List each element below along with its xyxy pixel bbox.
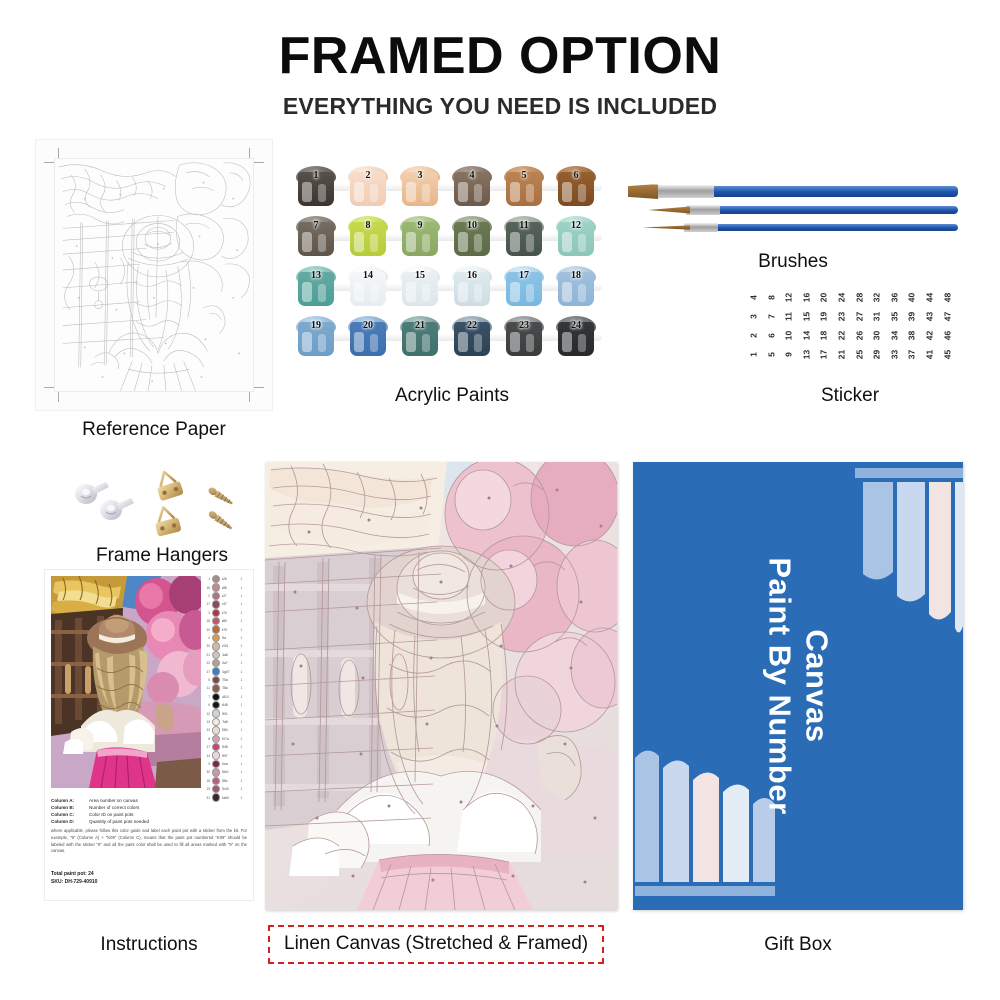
paint-pot: 17 — [504, 266, 544, 308]
legend-index: 13 — [205, 720, 210, 724]
legend-swatch — [212, 659, 221, 668]
sticker-number: 21 — [831, 346, 850, 364]
paint-pot-number: 9 — [400, 216, 440, 235]
legend-index: 27 — [205, 670, 210, 674]
paint-pot-number: 2 — [348, 166, 388, 185]
sticker-number: 38 — [902, 327, 921, 345]
column-key-row: Column D: Quantity of paint pots needed — [51, 819, 247, 826]
brush-flat — [628, 186, 958, 197]
instructions-sheet-image: 1s261 16s881 2s271 17b471 3a701 18a801 1… — [45, 570, 253, 900]
legend-swatch — [212, 777, 221, 786]
legend-swatch — [212, 718, 221, 727]
gift-box-title: Canvas Paint By Number — [761, 557, 834, 814]
sticker-number: 45 — [937, 346, 956, 364]
paint-pot-number: 17 — [504, 266, 544, 285]
caption-gift-box: Gift Box — [633, 935, 963, 956]
sticker-number: 10 — [778, 327, 797, 345]
legend-qty: 1 — [239, 586, 244, 590]
sticker-number: 1 — [743, 346, 762, 364]
column-key-label: Column C: — [51, 812, 83, 819]
total-paint-pots: Total paint pot: 24 — [51, 870, 247, 878]
sticker-number: 47 — [937, 308, 956, 326]
brush-round-fine — [638, 224, 958, 231]
paint-pot: 8 — [348, 216, 388, 258]
sticker-number-grid: 4 8 12 16 20 24 28 32 36 40 44 48 3 7 11… — [744, 288, 955, 364]
legend-swatch — [212, 709, 221, 718]
sticker-number: 13 — [796, 346, 815, 364]
sticker-number: 44 — [919, 289, 938, 307]
d-ring-hanger-icon — [153, 470, 184, 501]
legend-index: 1 — [205, 577, 210, 581]
legend-swatch — [212, 785, 221, 794]
legend-index: 16 — [205, 586, 210, 590]
linen-canvas-image — [265, 462, 617, 910]
legend-swatch — [212, 768, 221, 777]
legend-code: 7b40 — [222, 787, 238, 791]
legend-qty: 1 — [239, 762, 244, 766]
sticker-number: 18 — [814, 327, 833, 345]
paint-pot-number: 14 — [348, 266, 388, 285]
instructions-fine-print: where applicable, please follow this col… — [51, 828, 247, 855]
paint-pot-number: 24 — [556, 316, 596, 335]
sticker-number: 43 — [919, 308, 938, 326]
legend-qty: 1 — [239, 619, 244, 623]
legend-swatch — [212, 634, 221, 643]
sticker-number: 16 — [796, 289, 815, 307]
column-key-desc: Color ID on paint pots — [89, 812, 133, 819]
paint-pot: 5 — [504, 166, 544, 208]
paint-pot-number: 3 — [400, 166, 440, 185]
paint-pot: 20 — [348, 316, 388, 358]
legend-qty: 1 — [239, 670, 244, 674]
brushes-image — [628, 168, 958, 248]
legend-swatch — [212, 642, 221, 651]
paint-pot: 2 — [348, 166, 388, 208]
brush-bristles — [628, 184, 658, 199]
paint-pot: 4 — [452, 166, 492, 208]
legend-swatch — [212, 583, 221, 592]
column-key-label: Column D: — [51, 819, 83, 826]
legend-qty: 1 — [239, 602, 244, 606]
paint-pot: 10 — [452, 216, 492, 258]
sticker-sheet-image: 4 8 12 16 20 24 28 32 36 40 44 48 3 7 11… — [744, 288, 956, 366]
legend-code: 207a — [222, 737, 238, 741]
legend-qty: 1 — [239, 695, 244, 699]
sticker-number: 19 — [814, 308, 833, 326]
paint-pot: 19 — [296, 316, 336, 358]
sticker-number: 41 — [919, 346, 938, 364]
sticker-number: 29 — [866, 346, 885, 364]
paint-pot-number: 1 — [296, 166, 336, 185]
sticker-number: 5 — [761, 346, 780, 364]
sticker-number: 4 — [743, 289, 762, 307]
legend-index: 20 — [205, 644, 210, 648]
gift-box-line2: Paint By Number — [761, 557, 798, 814]
legend-index: 17 — [205, 602, 210, 606]
sku-code: SKU: DH-729-40910 — [51, 878, 247, 886]
sticker-number: 26 — [849, 327, 868, 345]
legend-code: u810 — [222, 695, 238, 699]
legend-swatch — [212, 575, 221, 584]
sticker-number: 9 — [778, 346, 797, 364]
legend-code: f0a — [222, 636, 238, 640]
legend-index: 18 — [205, 619, 210, 623]
canvas-artwork — [265, 462, 617, 910]
legend-qty: 1 — [239, 636, 244, 640]
sticker-number: 11 — [778, 308, 797, 326]
sticker-number: 8 — [761, 289, 780, 307]
legend-index: 11 — [205, 686, 210, 690]
sticker-number: 7 — [761, 308, 780, 326]
legend-code: t1a8 — [222, 653, 238, 657]
paint-pot-number: 8 — [348, 216, 388, 235]
sticker-number: 23 — [831, 308, 850, 326]
paint-pot: 14 — [348, 266, 388, 308]
paint-pot-number: 5 — [504, 166, 544, 185]
legend-index: 19 — [205, 787, 210, 791]
sticker-number: 31 — [866, 308, 885, 326]
legend-qty: 1 — [239, 728, 244, 732]
instructions-color-legend: 1s261 16s881 2s271 17b471 3a701 18a801 1… — [205, 575, 249, 797]
column-key-desc: Quantity of paint pots needed — [89, 819, 149, 826]
legend-qty: 1 — [239, 787, 244, 791]
sticker-number: 33 — [884, 346, 903, 364]
paint-pot: 18 — [556, 266, 596, 308]
legend-code: 2f97 — [222, 754, 238, 758]
legend-code: v001 — [222, 644, 238, 648]
wall-plug-icon — [75, 482, 109, 504]
paint-pot-number: 13 — [296, 266, 336, 285]
column-key-row: Column C: Color ID on paint pots — [51, 812, 247, 819]
frame-hangers-image — [62, 470, 262, 545]
legend-code: t7a8 — [222, 720, 238, 724]
page-title: FRAMED OPTION — [0, 30, 1000, 82]
caption-acrylic-paints: Acrylic Paints — [296, 386, 608, 407]
gift-box-image: Canvas Paint By Number — [633, 462, 963, 910]
column-key-label: Column B: — [51, 805, 83, 812]
paint-pot-number: 12 — [556, 216, 596, 235]
legend-code: t75a — [222, 678, 238, 682]
sticker-number: 37 — [902, 346, 921, 364]
brush-bristles — [642, 225, 690, 230]
wall-plug-icon — [100, 498, 134, 520]
legend-qty: 1 — [239, 678, 244, 682]
legend-code: t901 — [222, 712, 238, 716]
caption-frame-hangers: Frame Hangers — [52, 546, 272, 567]
paint-pot: 11 — [504, 216, 544, 258]
sticker-number: 6 — [761, 327, 780, 345]
legend-swatch — [212, 676, 221, 685]
legend-qty: 1 — [239, 661, 244, 665]
column-key-desc: Number of correct colors — [89, 805, 139, 812]
legend-swatch — [212, 760, 221, 769]
column-key-label: Column A: — [51, 798, 83, 805]
legend-code: t78a — [222, 686, 238, 690]
sticker-number: 15 — [796, 308, 815, 326]
sticker-number: 34 — [884, 327, 903, 345]
legend-index: 2 — [205, 594, 210, 598]
legend-swatch — [212, 701, 221, 710]
paint-pot: 16 — [452, 266, 492, 308]
paint-pot: 9 — [400, 216, 440, 258]
legend-swatch — [212, 592, 221, 601]
legend-qty: 1 — [239, 745, 244, 749]
paint-pot: 1 — [296, 166, 336, 208]
screw-icon — [207, 510, 233, 532]
paint-pot: 7 — [296, 216, 336, 258]
paint-pot: 13 — [296, 266, 336, 308]
paint-pot: 3 — [400, 166, 440, 208]
sticker-number: 32 — [866, 289, 885, 307]
caption-reference-paper: Reference Paper — [36, 420, 272, 441]
sticker-number: 35 — [884, 308, 903, 326]
sticker-number: 30 — [866, 327, 885, 345]
brush-round-medium — [634, 206, 958, 214]
legend-code: 25f4 — [222, 728, 238, 732]
legend-qty: 1 — [239, 720, 244, 724]
sticker-number: 25 — [849, 346, 868, 364]
paint-pot-number: 11 — [504, 216, 544, 235]
legend-index: 9 — [205, 762, 210, 766]
legend-qty: 1 — [239, 779, 244, 783]
sticker-number: 39 — [902, 308, 921, 326]
legend-index: 5 — [205, 678, 210, 682]
column-key-row: Column B: Number of correct colors — [51, 805, 247, 812]
paint-pot-number: 16 — [452, 266, 492, 285]
legend-swatch — [212, 617, 221, 626]
d-ring-hanger-icon — [152, 505, 182, 537]
sticker-number: 46 — [937, 327, 956, 345]
legend-index: 12 — [205, 712, 210, 716]
reference-paper-lineart — [54, 158, 254, 392]
gift-box-line1: Canvas — [798, 557, 835, 814]
column-key-desc: Area number on canvas — [89, 798, 138, 805]
legend-code: 2f48 — [222, 745, 238, 749]
instructions-artwork — [51, 576, 201, 788]
sticker-number: 12 — [778, 289, 797, 307]
legend-swatch — [212, 667, 221, 676]
legend-swatch — [212, 726, 221, 735]
paint-pot-number: 22 — [452, 316, 492, 335]
legend-index: 21 — [205, 653, 210, 657]
legend-code: a80 — [222, 619, 238, 623]
legend-index: 8 — [205, 737, 210, 741]
product-infographic: FRAMED OPTION EVERYTHING YOU NEED IS INC… — [0, 0, 1000, 1000]
legend-swatch — [212, 751, 221, 760]
legend-index: 3 — [205, 611, 210, 615]
column-key-row: Column A: Area number on canvas — [51, 798, 247, 805]
legend-swatch — [212, 735, 221, 744]
paint-pot: 12 — [556, 216, 596, 258]
legend-swatch — [212, 600, 221, 609]
paint-pot: 15 — [400, 266, 440, 308]
legend-code: 7ma — [222, 762, 238, 766]
legend-code: 28fc — [222, 779, 238, 783]
legend-qty: 1 — [239, 644, 244, 648]
legend-qty: 1 — [239, 754, 244, 758]
instructions-column-keys: Column A: Area number on canvas Column B… — [51, 798, 247, 826]
paint-pot: 21 — [400, 316, 440, 358]
legend-index: 17 — [205, 745, 210, 749]
paint-pot-number: 15 — [400, 266, 440, 285]
sticker-number: 27 — [849, 308, 868, 326]
legend-code: a70 — [222, 611, 238, 615]
paint-pot-number: 10 — [452, 216, 492, 235]
caption-brushes: Brushes — [628, 252, 958, 273]
legend-qty: 1 — [239, 611, 244, 615]
sticker-number: 14 — [796, 327, 815, 345]
legend-qty: 1 — [239, 737, 244, 741]
paint-pot-number: 7 — [296, 216, 336, 235]
legend-code: t648 — [222, 703, 238, 707]
legend-index: 30 — [205, 770, 210, 774]
legend-qty: 1 — [239, 703, 244, 707]
sticker-number: 20 — [814, 289, 833, 307]
paint-pot-number: 4 — [452, 166, 492, 185]
paint-pot-number: 18 — [556, 266, 596, 285]
sticker-number: 17 — [814, 346, 833, 364]
legend-index: 23 — [205, 728, 210, 732]
legend-code: b47 — [222, 602, 238, 606]
paint-pot: 24 — [556, 316, 596, 358]
legend-index: 10 — [205, 628, 210, 632]
legend-swatch — [212, 693, 221, 702]
paint-pot: 23 — [504, 316, 544, 358]
paint-pot-number: 19 — [296, 316, 336, 335]
legend-swatch — [212, 651, 221, 660]
legend-code: s27 — [222, 594, 238, 598]
legend-swatch — [212, 609, 221, 618]
paint-pot-number: 20 — [348, 316, 388, 335]
caption-sticker: Sticker — [744, 386, 956, 407]
page-subtitle: EVERYTHING YOU NEED IS INCLUDED — [0, 95, 1000, 118]
sticker-number: 22 — [831, 327, 850, 345]
legend-swatch — [212, 743, 221, 752]
legend-index: 4 — [205, 636, 210, 640]
reference-paper-image — [36, 140, 272, 410]
legend-qty: 1 — [239, 686, 244, 690]
caption-linen-canvas: Linen Canvas (Stretched & Framed) — [268, 925, 604, 964]
sticker-number: 24 — [831, 289, 850, 307]
screw-icon — [207, 486, 234, 507]
legend-code: t1g07 — [222, 670, 238, 674]
legend-index: 7 — [205, 695, 210, 699]
brush-bristles — [648, 207, 690, 214]
sticker-number: 28 — [849, 289, 868, 307]
legend-index: 22 — [205, 661, 210, 665]
legend-qty: 1 — [239, 577, 244, 581]
sticker-number: 3 — [743, 308, 762, 326]
sticker-number: 36 — [884, 289, 903, 307]
legend-qty: 1 — [239, 628, 244, 632]
caption-instructions: Instructions — [45, 935, 253, 956]
legend-qty: 1 — [239, 594, 244, 598]
legend-code: t2a7 — [222, 661, 238, 665]
legend-index: 6 — [205, 703, 210, 707]
legend-index: 14 — [205, 754, 210, 758]
paint-pot-number: 6 — [556, 166, 596, 185]
legend-swatch — [212, 684, 221, 693]
sticker-number: 40 — [902, 289, 921, 307]
legend-code: 28c0 — [222, 770, 238, 774]
legend-code: s26 — [222, 577, 238, 581]
sticker-number: 42 — [919, 327, 938, 345]
acrylic-paints-image: 1 2 3 4 5 — [296, 166, 608, 358]
sticker-number: 2 — [743, 327, 762, 345]
paint-pot: 22 — [452, 316, 492, 358]
paint-pot: 6 — [556, 166, 596, 208]
instructions-totals: Total paint pot: 24 SKU: DH-729-40910 — [51, 870, 247, 887]
legend-code: s88 — [222, 586, 238, 590]
legend-qty: 1 — [239, 770, 244, 774]
legend-index: 18 — [205, 779, 210, 783]
legend-code: a79 — [222, 628, 238, 632]
paint-pot-number: 23 — [504, 316, 544, 335]
legend-qty: 1 — [239, 712, 244, 716]
legend-qty: 1 — [239, 653, 244, 657]
paint-pot-number: 21 — [400, 316, 440, 335]
legend-swatch — [212, 625, 221, 634]
sticker-number: 48 — [937, 289, 956, 307]
